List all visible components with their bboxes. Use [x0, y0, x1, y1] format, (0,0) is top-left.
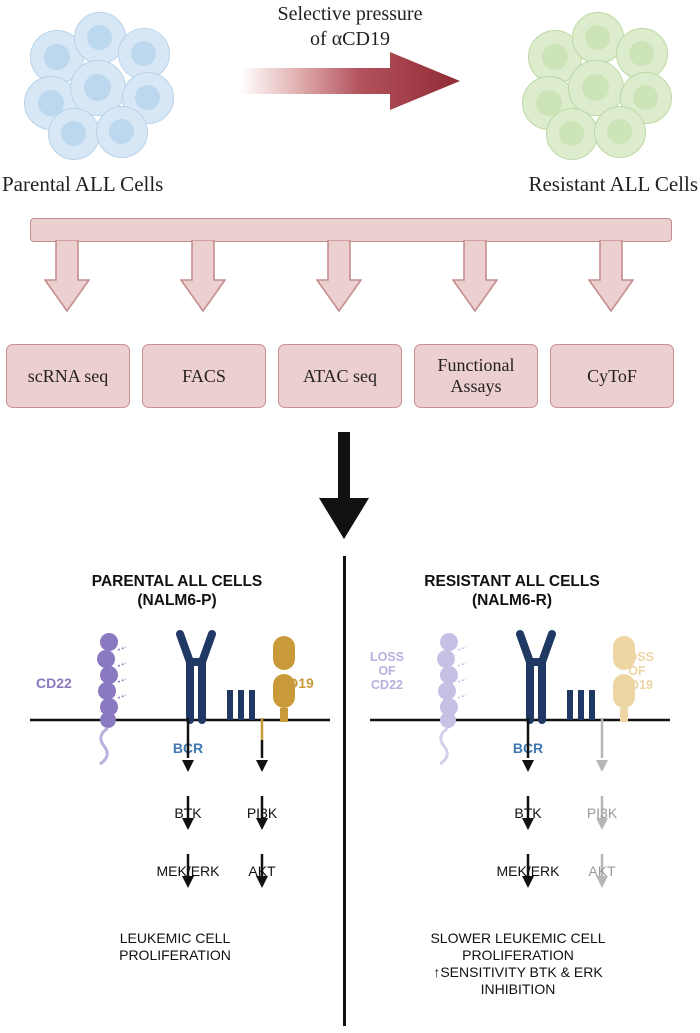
resistant-outcome-line-2: PROLIFERATION — [378, 947, 658, 964]
parental-cells-caption: Parental ALL Cells — [0, 172, 242, 197]
method-label: scRNA seq — [28, 366, 109, 387]
selective-pressure-arrow-icon — [240, 50, 460, 112]
cd19-label: CD19 — [278, 675, 314, 691]
parental-outcome-line-1: LEUKEMIC CELL — [50, 930, 300, 947]
method-label: CyToF — [587, 366, 637, 387]
method-box-functional-assays[interactable]: Functional Assays — [414, 344, 538, 408]
pressure-line-2: of αCD19 — [232, 27, 468, 52]
parental-panel-title: PARENTAL ALL CELLS (NALM6-P) — [42, 572, 312, 610]
cell — [96, 106, 148, 158]
fan-arrow-icon-2 — [180, 240, 226, 312]
loss-of-cd19-label: LOSS OF CD19 — [612, 650, 662, 692]
method-label: ATAC seq — [303, 366, 377, 387]
resistant-outcome-line-1: SLOWER LEUKEMIC CELL — [378, 930, 658, 947]
resistant-node-akt: AKT — [572, 863, 632, 879]
resistant-outcome: SLOWER LEUKEMIC CELL PROLIFERATION ↑SENS… — [378, 930, 658, 998]
parental-cell-cluster — [22, 8, 192, 158]
parental-node-pi3k: PI3K — [232, 805, 292, 821]
cd22-label: CD22 — [36, 675, 72, 691]
cd22-receptor-faded-icon — [437, 633, 466, 764]
parental-outcome: LEUKEMIC CELL PROLIFERATION — [50, 930, 300, 964]
method-box-scrna-seq[interactable]: scRNA seq — [6, 344, 130, 408]
parental-node-btk: BTK — [158, 805, 218, 821]
resistant-panel-title: RESISTANT ALL CELLS (NALM6-R) — [372, 572, 652, 610]
fan-arrow-icon-5 — [588, 240, 634, 312]
method-box-facs[interactable]: FACS — [142, 344, 266, 408]
cell — [546, 108, 598, 160]
resistant-title-line-2: (NALM6-R) — [372, 591, 652, 610]
resistant-cell-cluster — [520, 8, 690, 158]
parental-title-line-2: (NALM6-P) — [42, 591, 312, 610]
bcr-receptor-icon — [520, 634, 595, 720]
cell — [594, 106, 646, 158]
panel-divider — [343, 556, 346, 1026]
fan-arrow-icon-3 — [316, 240, 362, 312]
downward-flow-arrow-icon — [318, 432, 370, 540]
resistant-outcome-line-4: INHIBITION — [378, 981, 658, 998]
method-box-cytof[interactable]: CyToF — [550, 344, 674, 408]
resistant-node-btk: BTK — [498, 805, 558, 821]
parental-outcome-line-2: PROLIFERATION — [50, 947, 300, 964]
resistant-node-pi3k: PI3K — [572, 805, 632, 821]
resistant-title-line-1: RESISTANT ALL CELLS — [372, 572, 652, 591]
selective-pressure-label: Selective pressure of αCD19 — [232, 2, 468, 52]
bcr-receptor-icon — [180, 634, 255, 720]
parental-pathway-arrows — [150, 718, 290, 938]
resistant-outcome-line-3: ↑SENSITIVITY BTK & ERK — [378, 964, 658, 981]
fan-arrow-icon-4 — [452, 240, 498, 312]
loss-of-cd22-label: LOSS OF CD22 — [364, 650, 410, 692]
parental-node-akt: AKT — [232, 863, 292, 879]
distribution-bar — [30, 218, 672, 242]
cell — [48, 108, 100, 160]
pressure-line-1: Selective pressure — [232, 2, 468, 27]
resistant-cells-caption: Resistant ALL Cells — [450, 172, 700, 197]
fan-arrow-icon-1 — [44, 240, 90, 312]
parental-node-mek-erk: MEK/ERK — [138, 863, 238, 879]
method-label: Functional Assays — [438, 355, 515, 397]
resistant-node-mek-erk: MEK/ERK — [478, 863, 578, 879]
method-label: FACS — [182, 366, 226, 387]
resistant-pathway-arrows — [490, 718, 630, 938]
parental-title-line-1: PARENTAL ALL CELLS — [42, 572, 312, 591]
cd22-receptor-icon — [97, 633, 126, 764]
method-box-atac-seq[interactable]: ATAC seq — [278, 344, 402, 408]
